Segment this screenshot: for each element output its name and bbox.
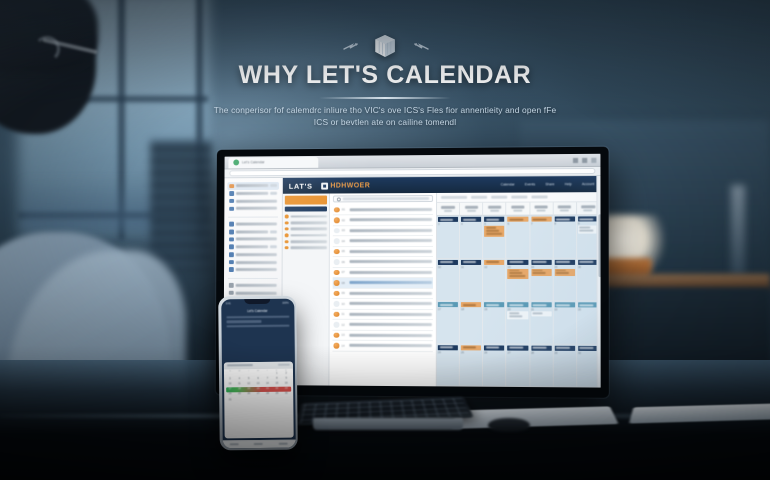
phone-day-cell[interactable]: 12 (244, 382, 253, 386)
event-index: 10 (341, 302, 346, 306)
calendar-day-number: 7 (531, 223, 551, 226)
sidebar-item-import-ics[interactable] (227, 228, 279, 236)
calendar-day-cell[interactable]: 15 (553, 258, 577, 301)
phone-tab-calendar[interactable] (254, 443, 263, 445)
app-topnav[interactable]: Calendar Events Share Help Account (501, 182, 595, 187)
calendar-event-label (439, 261, 453, 263)
subnav-item-label (290, 234, 327, 237)
calendar-day-cell[interactable]: 29 (553, 344, 577, 387)
calendar-day-cell[interactable]: 11 (460, 258, 483, 301)
calendar-day-cell[interactable]: 4 (460, 216, 483, 259)
phone-day-cell[interactable]: 6 (254, 377, 263, 381)
calendar-day-cell[interactable]: 5 (483, 216, 506, 259)
phone-week-row[interactable]: 31 (226, 397, 291, 402)
cube-icon-wrap (335, 32, 435, 60)
title-divider (319, 97, 451, 99)
calendar-day-cell[interactable]: 6 (507, 216, 530, 259)
calendar-event[interactable] (531, 259, 551, 264)
sidebar-item-label (236, 199, 277, 202)
feed-icon (229, 222, 233, 226)
url-input[interactable] (229, 168, 595, 176)
phone-day-cell[interactable] (245, 398, 254, 402)
phone-day-cell[interactable]: 7 (263, 377, 272, 381)
day-date (537, 209, 546, 212)
subnav-item[interactable] (283, 245, 329, 251)
calendar-event[interactable] (531, 217, 551, 222)
calendar-event-detail (509, 272, 522, 274)
phone-day-cell[interactable]: 2 (282, 371, 291, 375)
calendar-week-row: 10111213141516 (437, 258, 601, 301)
calendar-event-detail (556, 272, 569, 274)
sidebar-item-label (235, 268, 276, 271)
calendar-day-number: 25 (461, 351, 481, 354)
phone-day-cell[interactable]: 17 (226, 387, 235, 391)
sidebar-item-label (235, 245, 268, 248)
event-status-icon (334, 322, 339, 327)
sidebar-item-label (235, 223, 276, 226)
calendar-event-detail (533, 312, 543, 314)
calendar-event-label (556, 218, 570, 220)
phone-day-cell[interactable] (235, 398, 244, 402)
phone-tab-home[interactable] (230, 443, 239, 445)
day-date (467, 209, 476, 212)
calendar-day-number: 23 (578, 308, 599, 311)
phone-day-cell[interactable]: 23 (282, 387, 291, 391)
app-logo-mark (321, 182, 328, 189)
phone-tab-settings[interactable] (279, 442, 288, 444)
day-date (444, 209, 453, 212)
calendar-event[interactable] (508, 217, 528, 222)
event-list-item[interactable]: 14 (332, 341, 432, 352)
phone-day-cell[interactable]: 22 (273, 387, 282, 391)
calendar-event[interactable] (578, 345, 599, 350)
event-list-item[interactable]: 13 (333, 330, 433, 341)
calendar-grid[interactable]: 3456789101112131415161718192021222324252… (437, 215, 601, 387)
phone-day-cell[interactable]: 16 (282, 382, 291, 386)
calendar-event[interactable] (461, 302, 481, 307)
app-topbar: LAT'S HDHWOER Calendar Events Share Help… (283, 176, 601, 194)
browser-tab-title: Let's Calendar (242, 160, 265, 164)
sidebar-item-label (235, 238, 276, 241)
event-title (349, 313, 432, 316)
calendar-event-label (556, 304, 570, 306)
workspace-card[interactable] (285, 206, 327, 211)
event-status-icon (334, 249, 339, 254)
server-rack (150, 140, 212, 270)
phone-day-cell[interactable]: 20 (254, 387, 263, 391)
calendar-day-cell[interactable]: 21 (530, 301, 553, 344)
calendar-day-number: 28 (531, 351, 551, 354)
calendar-day-number: 30 (578, 351, 599, 354)
sidebar-item-dashboard[interactable] (227, 182, 279, 190)
phone-calendar-card[interactable]: SMTWTFS 12345678910111213141516171819202… (223, 361, 293, 438)
calendar-event-block[interactable] (484, 226, 504, 237)
sidebar-divider (228, 277, 278, 278)
sidebar-item-label (235, 291, 277, 294)
event-index: 01 (342, 208, 347, 212)
calendar-day-cell[interactable]: 22 (553, 301, 577, 344)
calendar-day-number: 19 (484, 308, 504, 311)
calendar-event-block[interactable] (554, 268, 574, 276)
calendar-event-detail (486, 227, 496, 229)
event-list-item[interactable]: 04 (333, 236, 433, 247)
calendar-day-cell[interactable]: 28 (530, 344, 553, 387)
phone-day-cell[interactable]: 5 (244, 377, 253, 381)
event-list-item[interactable]: 12 (333, 320, 433, 331)
sidebar-item-label (235, 230, 268, 233)
phone-hero-line (226, 325, 289, 328)
calendar-event-label (486, 218, 500, 220)
phone-tabbar[interactable] (222, 439, 295, 448)
event-list-item[interactable]: 07 (333, 267, 433, 278)
sidebar-item-events[interactable] (227, 205, 279, 213)
calendar-event[interactable] (508, 302, 528, 307)
subnav-item-label (290, 240, 327, 243)
event-index: 08 (342, 281, 347, 285)
phone-notch (244, 298, 270, 303)
cube-icon (372, 33, 398, 59)
calendar-event[interactable] (484, 217, 504, 222)
sidebar-item-templates[interactable] (227, 235, 279, 243)
subnav-item-label (290, 246, 327, 249)
event-list-item[interactable]: 02 (333, 215, 433, 226)
event-list-item[interactable]: 08 (333, 278, 433, 289)
calendar-day-cell[interactable]: 10 (437, 258, 460, 301)
phone-day-cell[interactable]: 14 (263, 382, 272, 386)
calendar-event-detail (486, 233, 502, 235)
grid-icon (229, 184, 233, 188)
phone-day-cell[interactable]: 11 (235, 382, 244, 386)
phone-screen[interactable]: 9:41 100% Let's Calendar SMTWTFS 1234567… (221, 298, 296, 448)
calendar-day-cell[interactable]: 17 (437, 301, 460, 344)
event-list-item[interactable]: 06 (333, 257, 433, 268)
sidebar-item-label (236, 207, 277, 210)
event-title (349, 271, 432, 274)
window-controls[interactable] (573, 157, 596, 162)
calendar-event[interactable] (461, 217, 481, 222)
search-input[interactable] (333, 195, 433, 202)
calendar-day-number: 29 (554, 351, 574, 354)
calendar-event[interactable] (484, 259, 504, 264)
toolbar-month-button[interactable] (471, 196, 487, 199)
calendar-day-number: 5 (484, 223, 504, 226)
calendar-day-cell[interactable]: 19 (483, 301, 506, 344)
minimize-icon[interactable] (573, 157, 578, 162)
calendar-day-number: 10 (438, 265, 458, 268)
event-list-item[interactable]: 03 (333, 225, 433, 236)
calendar-event-label (580, 304, 594, 306)
day-date (584, 209, 593, 212)
sidebar-item-label (236, 184, 269, 187)
calendar-day-number: 20 (508, 308, 528, 311)
phone-hero-title: Let's Calendar (226, 308, 289, 313)
day-name (581, 205, 595, 208)
toolbar-filter-button[interactable] (531, 195, 547, 198)
event-index: 07 (342, 270, 347, 274)
calendar-event-label (556, 347, 570, 349)
event-index: 03 (342, 228, 347, 232)
calendar-view: 3456789101112131415161718192021222324252… (437, 192, 601, 387)
maximize-icon[interactable] (582, 157, 587, 162)
calendar-day-cell[interactable]: 14 (530, 258, 553, 301)
calendar-event[interactable] (531, 345, 551, 350)
calendar-event[interactable] (578, 302, 599, 307)
phone-day-cell[interactable]: 18 (235, 387, 244, 391)
event-status-icon (333, 332, 338, 338)
search-icon (337, 197, 341, 201)
sidebar-item-reminders[interactable] (227, 258, 279, 266)
scene: Let's Calendar (0, 0, 770, 480)
event-list-item[interactable]: 09 (333, 288, 433, 299)
calendar-day-number: 8 (554, 223, 574, 226)
day-name (465, 206, 478, 209)
event-index: 09 (342, 291, 347, 295)
event-status-icon (334, 217, 339, 222)
calendar-day-cell[interactable]: 24 (437, 344, 460, 387)
calendar-event-label (533, 347, 547, 349)
swoosh-right-icon (407, 40, 429, 54)
calendar-day-cell[interactable]: 27 (507, 344, 530, 387)
dot-icon (285, 227, 288, 230)
calendar-event-label (579, 261, 593, 263)
event-title (349, 229, 432, 232)
calendar-day-header (553, 202, 576, 215)
calendar-event[interactable] (578, 216, 599, 221)
calendar-day-number: 26 (484, 351, 504, 354)
phone-day-cell[interactable]: 28 (263, 392, 272, 396)
phone-day-cell[interactable]: 4 (235, 377, 244, 381)
phone-day-cell[interactable]: 29 (273, 392, 282, 396)
toolbar-today-button[interactable] (441, 196, 467, 199)
plug-icon (229, 245, 233, 249)
sidebar-group (227, 220, 279, 273)
phone-day-cell[interactable]: 21 (263, 387, 272, 391)
phone-day-cell[interactable] (263, 397, 272, 401)
calendar-day-cell[interactable]: 20 (507, 301, 530, 344)
phone-day-cell[interactable]: 8 (272, 376, 281, 380)
brand-badge: HDHWOER (321, 182, 370, 189)
event-index: 12 (341, 323, 346, 327)
browser-tab[interactable]: Let's Calendar (228, 156, 318, 168)
day-name (441, 206, 454, 209)
close-icon[interactable] (591, 157, 596, 162)
sidebar-item-integrations[interactable] (227, 243, 279, 251)
event-status-icon (334, 259, 339, 264)
calendar-day-number: 14 (531, 265, 551, 268)
sidebar-item-count (270, 230, 277, 233)
calendar-event[interactable] (531, 302, 551, 307)
calendar-event-block[interactable] (508, 268, 528, 279)
calendar-event-block[interactable] (531, 311, 551, 316)
event-list-item[interactable]: 01 (333, 204, 433, 215)
day-name (488, 206, 501, 209)
calendar-event[interactable] (438, 302, 458, 307)
phone-day-cell[interactable]: 13 (254, 382, 263, 386)
phone-day-cell[interactable] (254, 397, 263, 401)
sidebar-group (227, 182, 279, 213)
topnav-item-help[interactable]: Help (565, 182, 572, 186)
calendar-event[interactable] (484, 345, 504, 350)
calendar-event-detail (579, 227, 589, 229)
topnav-item-calendar[interactable]: Calendar (501, 183, 515, 187)
event-list-item[interactable]: 05 (333, 246, 433, 257)
calendar-event[interactable] (554, 259, 574, 264)
dot-icon (285, 234, 288, 237)
calendar-day-header (437, 203, 460, 216)
overlay-banner: WHY LET'S CALENDAR The conperisor fof ca… (0, 0, 770, 148)
calendar-day-cell[interactable]: 25 (460, 344, 483, 387)
sidebar-item-settings[interactable] (227, 281, 279, 289)
calendar-scrollbar[interactable] (596, 176, 600, 388)
event-title (349, 323, 432, 326)
event-title (349, 302, 432, 305)
phone-day-cell[interactable] (282, 397, 291, 401)
event-list-item[interactable]: 11 (333, 309, 433, 320)
calendar-event-detail (533, 269, 543, 271)
phone-day-cell[interactable]: 9 (282, 376, 291, 380)
event-index: 04 (342, 239, 347, 243)
calendar-event-label (486, 304, 500, 306)
event-title (349, 344, 432, 347)
topnav-item-events[interactable]: Events (525, 182, 535, 186)
calendar-toolbar[interactable] (437, 192, 600, 203)
phone-month-grid[interactable]: 1234567891011121314151617181920212223242… (223, 371, 292, 402)
calendar-event[interactable] (554, 302, 574, 307)
phone-day-cell[interactable]: 30 (282, 392, 291, 396)
calendar-day-cell[interactable]: 18 (460, 301, 483, 344)
day-date (490, 209, 499, 212)
calendar-event-detail (509, 269, 519, 271)
sidebar-item-reports[interactable] (227, 266, 279, 274)
day-name (558, 205, 571, 208)
sidebar-item-label (236, 192, 269, 195)
calendar-day-cell[interactable]: 13 (507, 258, 530, 301)
sidebar-item-automations[interactable] (227, 251, 279, 259)
phone-day-cell[interactable]: 19 (244, 387, 253, 391)
calendar-event-label (509, 218, 523, 220)
calendar-day-cell[interactable]: 7 (530, 216, 553, 259)
calendar-day-number: 24 (438, 351, 458, 354)
calendar-event[interactable] (438, 345, 458, 350)
calendar-event-detail (509, 275, 525, 277)
event-status-icon (334, 228, 339, 233)
event-status-icon (334, 280, 339, 285)
calendar-event[interactable] (484, 302, 504, 307)
event-title (349, 218, 432, 221)
status-battery: 100% (282, 301, 289, 304)
calendar-week-row: 17181920212223 (437, 301, 601, 344)
phone-day-cell[interactable] (235, 372, 244, 376)
day-name (534, 205, 547, 208)
sidebar-item-subscribe[interactable] (227, 220, 279, 228)
calendar-event[interactable] (461, 345, 481, 350)
phone-day-cell[interactable]: 25 (235, 392, 244, 396)
phone-day-cell[interactable]: 10 (226, 382, 235, 386)
phone-day-cell[interactable] (254, 371, 263, 375)
calendar-event[interactable] (554, 216, 574, 221)
scrollbar-thumb[interactable] (598, 214, 601, 277)
sidebar-item-label (235, 284, 277, 287)
calendar-day-cell[interactable]: 26 (483, 344, 506, 387)
phone-day-cell[interactable]: 1 (272, 371, 281, 375)
folder-icon (229, 291, 233, 295)
keyboard-front (313, 418, 463, 430)
day-date (560, 209, 569, 212)
new-calendar-button[interactable] (285, 196, 327, 205)
calendar-day-number: 12 (484, 265, 504, 268)
calendar-event[interactable] (508, 345, 528, 350)
phone-day-cell[interactable]: 15 (272, 382, 281, 386)
page-subtitle: The conperisor fof calemdrc inliure tho … (209, 105, 561, 128)
sidebar-item-label (235, 261, 276, 264)
event-title (349, 281, 432, 284)
calendar-event[interactable] (578, 259, 599, 264)
event-list-item[interactable]: 10 (333, 299, 433, 310)
event-title (349, 208, 432, 211)
calendar-day-cell[interactable]: 3 (437, 216, 460, 259)
calendar-event-label (463, 304, 477, 306)
calendar-day-cell[interactable]: 12 (483, 258, 506, 301)
phone-day-cell[interactable] (273, 397, 282, 401)
calendar-event[interactable] (438, 259, 458, 264)
phone-day-cell[interactable] (244, 372, 253, 376)
calendar-event[interactable] (508, 259, 528, 264)
sidebar-item-label (235, 253, 276, 256)
calendar-event-label (556, 261, 570, 263)
phone-day-cell[interactable]: 26 (244, 392, 253, 396)
event-list[interactable]: 0102030405060708091011121314 (329, 193, 437, 386)
subnav-item-label (290, 221, 327, 224)
status-time: 9:41 (226, 302, 231, 305)
subnav-item-label (290, 228, 327, 231)
mouse (488, 418, 530, 432)
calendar-day-number: 18 (461, 308, 481, 311)
calendar-event[interactable] (438, 217, 458, 222)
toolbar-day-button[interactable] (511, 196, 527, 199)
calendar-day-header (507, 203, 530, 216)
calendar-event-label (533, 218, 547, 220)
calendar-event[interactable] (461, 259, 481, 264)
event-index: 14 (341, 343, 346, 347)
calendar-event-block[interactable] (578, 225, 599, 233)
calendar-event-label (533, 261, 547, 263)
calendar-event-block[interactable] (531, 268, 551, 276)
phone-day-cell[interactable]: 24 (226, 393, 235, 397)
brand-primary: LAT'S (289, 181, 313, 190)
calendar-event-label (439, 346, 453, 348)
topnav-item-account[interactable]: Account (582, 182, 594, 186)
phone-day-cell[interactable] (263, 371, 272, 375)
calendar-event-detail (486, 230, 499, 232)
phone-day-cell[interactable]: 3 (226, 377, 235, 381)
toolbar-week-button[interactable] (491, 196, 507, 199)
calendar-day-cell[interactable]: 8 (553, 215, 577, 258)
event-title (349, 250, 432, 253)
phone-day-cell[interactable] (225, 372, 234, 376)
calendar-day-number: 16 (578, 265, 599, 268)
event-index: 02 (342, 218, 347, 222)
phone-today-button[interactable] (277, 363, 289, 366)
topnav-item-share[interactable]: Share (545, 182, 554, 186)
app-main: LAT'S HDHWOER Calendar Events Share Help… (282, 176, 600, 388)
phone-day-cell[interactable]: 31 (226, 398, 235, 402)
calendar-event[interactable] (554, 345, 574, 350)
phone-day-cell[interactable]: 27 (254, 392, 263, 396)
calendar-event-block[interactable] (508, 311, 528, 319)
calendar-event-label (486, 346, 500, 348)
phone-hero: Let's Calendar (221, 305, 295, 362)
clock-icon (229, 199, 233, 203)
